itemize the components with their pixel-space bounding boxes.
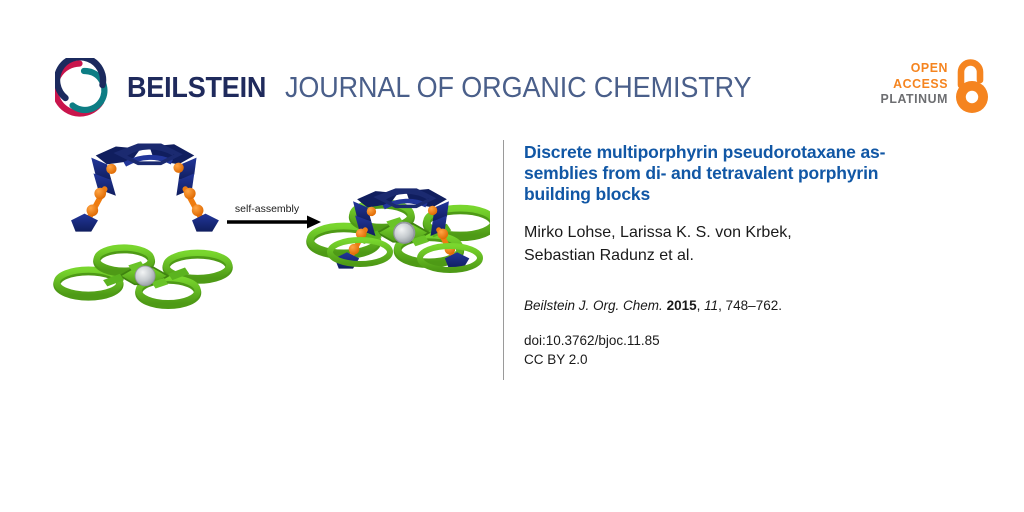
wordmark-beilstein: BEILSTEIN [127,72,266,105]
citation-volume: 11 [704,298,718,313]
citation-pages: 748–762. [726,298,782,313]
open-access-platinum-badge: OPEN ACCESS PLATINUM [884,58,992,120]
graphical-abstract-figure: self-assembly [30,130,490,330]
wordmark-journal-of-organic-chemistry: JOURNAL OF ORGANIC CHEMISTRY [285,72,751,105]
open-access-line-platinum: PLATINUM [881,91,948,107]
reactant-tetravalent-porphyrin-macrocycle [57,248,229,306]
article-citation: Beilstein J. Org. Chem. 2015, 11, 748–76… [524,297,976,315]
self-assembly-arrow-label: self-assembly [235,203,300,215]
article-authors: Mirko Lohse, Larissa K. S. von Krbek, Se… [524,222,976,267]
citation-journal: Beilstein J. Org. Chem. [524,298,663,313]
product-pseudorotaxane-assembly [310,189,490,270]
open-access-label-block: OPEN ACCESS PLATINUM [877,60,948,107]
open-access-line-access: ACCESS [881,76,948,92]
article-doi[interactable]: doi:10.3762/bjoc.11.85 [524,331,976,350]
citation-comma1: , [697,298,705,313]
column-divider [503,140,504,380]
article-title[interactable]: Discrete multiporphyrin pseudorotaxane a… [524,142,976,205]
self-assembly-arrow [227,216,321,229]
article-metadata: Discrete multiporphyrin pseudorotaxane a… [524,142,976,369]
citation-year: 2015 [667,298,697,313]
open-access-line-open: OPEN [881,60,948,76]
journal-wordmark: BEILSTEIN JOURNAL OF ORGANIC CHEMISTRY [127,72,786,106]
beilstein-swirl-logo [55,58,115,118]
reactant-divalent-porphyrin-clip [71,144,219,231]
citation-comma2: , [718,298,726,313]
article-identifiers: doi:10.3762/bjoc.11.85 CC BY 2.0 [524,331,976,369]
masthead: BEILSTEIN JOURNAL OF ORGANIC CHEMISTRY O… [0,0,1024,140]
open-padlock-icon [952,58,992,116]
article-license[interactable]: CC BY 2.0 [524,350,976,369]
